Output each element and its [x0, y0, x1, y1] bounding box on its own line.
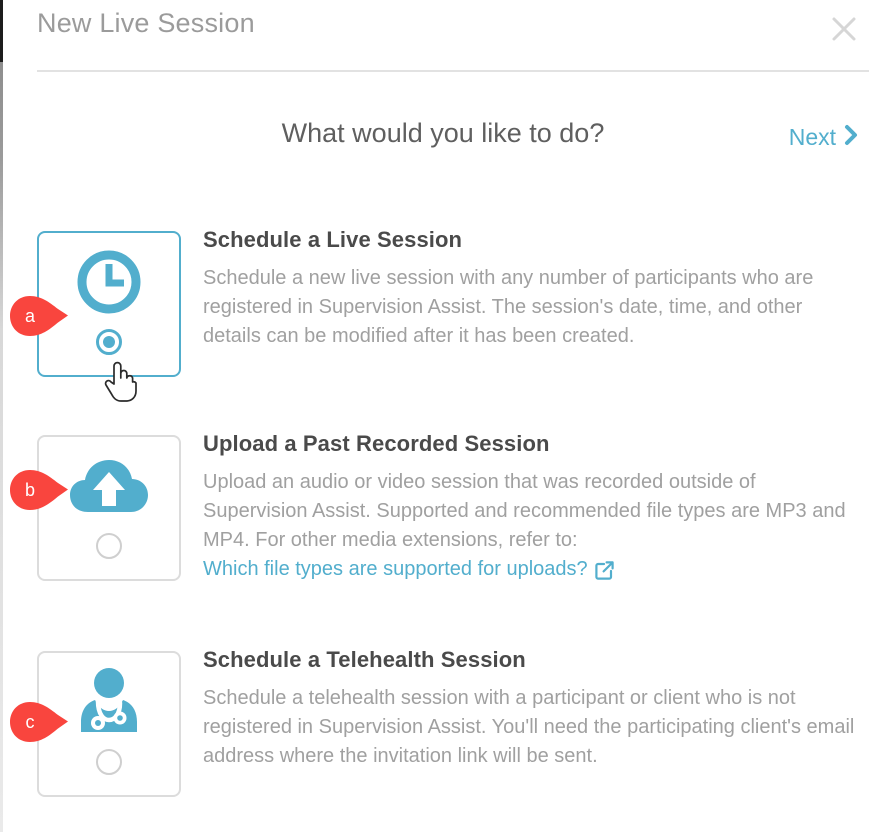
new-live-session-modal: New Live Session What would you like to …	[0, 0, 886, 832]
doctor-icon	[39, 661, 179, 743]
supported-file-types-link[interactable]: Which file types are supported for uploa…	[203, 555, 614, 584]
cloud-upload-icon	[39, 445, 179, 527]
option-text-telehealth-session: Schedule a Telehealth Session Schedule a…	[203, 647, 863, 771]
option-description: Upload an audio or video session that wa…	[203, 468, 863, 584]
option-heading: Schedule a Live Session	[203, 227, 863, 253]
external-link-icon	[595, 559, 614, 580]
option-list: Schedule a Live Session Schedule a new l…	[0, 0, 886, 832]
option-description: Schedule a new live session with any num…	[203, 264, 863, 351]
option-card-telehealth-session[interactable]	[37, 651, 181, 797]
option-radio-live-session[interactable]	[96, 329, 122, 355]
option-radio-telehealth-session[interactable]	[96, 749, 122, 775]
option-description: Schedule a telehealth session with a par…	[203, 684, 863, 771]
option-heading: Schedule a Telehealth Session	[203, 647, 863, 673]
option-radio-upload-session[interactable]	[96, 533, 122, 559]
option-text-live-session: Schedule a Live Session Schedule a new l…	[203, 227, 863, 351]
option-description-text: Upload an audio or video session that wa…	[203, 471, 846, 551]
option-card-upload-session[interactable]	[37, 435, 181, 581]
option-card-live-session[interactable]	[37, 231, 181, 377]
clock-icon	[39, 241, 179, 323]
supported-file-types-link-label: Which file types are supported for uploa…	[203, 555, 588, 584]
option-text-upload-session: Upload a Past Recorded Session Upload an…	[203, 431, 863, 584]
option-heading: Upload a Past Recorded Session	[203, 431, 863, 457]
